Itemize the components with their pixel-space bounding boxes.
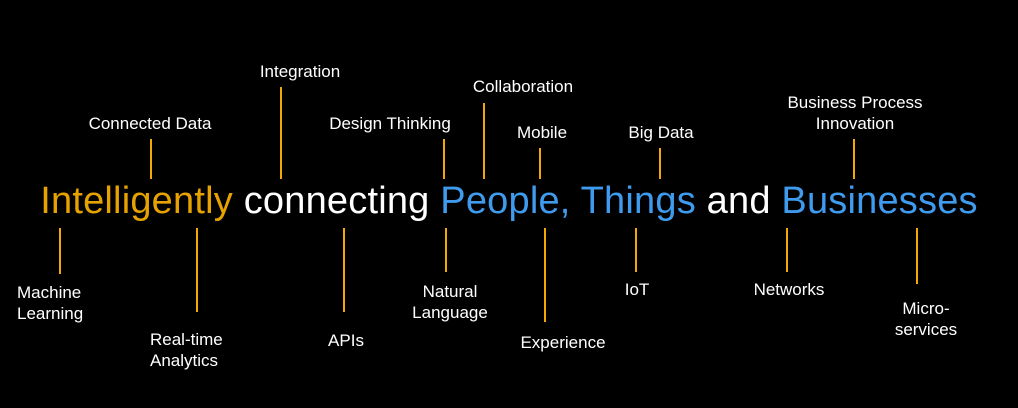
annotation-label-iot: IoT [625, 279, 650, 300]
headline-segment-and: and [696, 180, 782, 222]
connector-line-micro-services [916, 228, 918, 284]
connector-line-iot [635, 228, 637, 272]
headline-segment-people-things: People, Things [440, 180, 696, 222]
headline-segment-connecting: connecting [233, 180, 440, 222]
annotation-label-design-thinking: Design Thinking [329, 113, 451, 134]
connector-line-mobile [539, 148, 541, 179]
annotation-label-networks: Networks [754, 279, 825, 300]
connector-line-integration [280, 87, 282, 179]
annotation-label-apis: APIs [328, 330, 364, 351]
headline-segment-intelligently: Intelligently [40, 180, 233, 222]
annotation-label-big-data: Big Data [628, 122, 693, 143]
annotation-label-connected-data: Connected Data [89, 113, 212, 134]
connector-line-real-time-analytics [196, 228, 198, 312]
annotation-label-machine-learning: Machine Learning [17, 282, 83, 324]
connector-line-apis [343, 228, 345, 312]
headline: Intelligently connecting People, Things … [0, 178, 1018, 224]
connector-line-big-data [659, 148, 661, 179]
connector-line-connected-data [150, 139, 152, 179]
connector-line-machine-learning [59, 228, 61, 274]
annotation-label-business-process-innovation: Business Process Innovation [787, 92, 922, 134]
connector-line-natural-language [445, 228, 447, 272]
connector-line-business-process-innovation [853, 139, 855, 179]
annotation-label-experience: Experience [520, 332, 605, 353]
annotation-label-natural-language: Natural Language [412, 281, 488, 323]
annotation-label-real-time-analytics: Real-time Analytics [150, 329, 223, 371]
annotation-label-mobile: Mobile [517, 122, 567, 143]
connector-line-networks [786, 228, 788, 272]
infographic-canvas: Connected Data Integration Design Thinki… [0, 0, 1018, 408]
connector-line-design-thinking [443, 139, 445, 179]
annotation-label-collaboration: Collaboration [473, 76, 573, 97]
annotation-label-micro-services: Micro-services [880, 298, 972, 340]
connector-line-experience [544, 228, 546, 322]
headline-segment-businesses: Businesses [781, 180, 977, 222]
annotation-label-integration: Integration [260, 61, 340, 82]
connector-line-collaboration [483, 103, 485, 179]
